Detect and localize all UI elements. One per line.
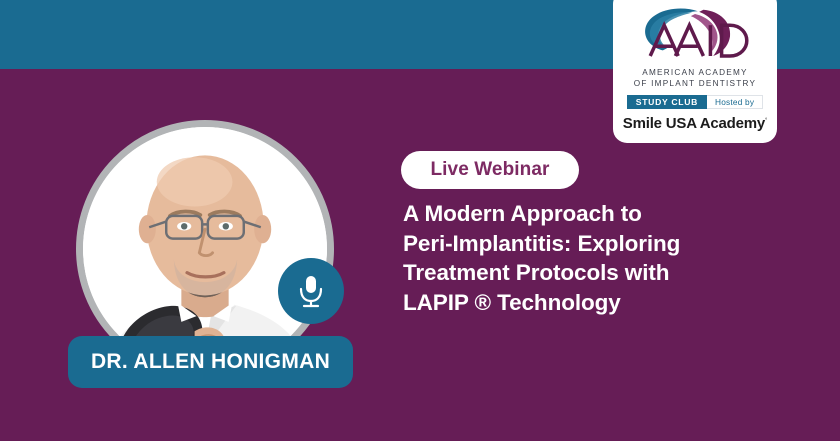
logo-org-line-2: OF IMPLANT DENTISTRY xyxy=(634,78,757,89)
host-trademark: ° xyxy=(765,118,767,124)
aaid-logo-card: AMERICAN ACADEMY OF IMPLANT DENTISTRY ST… xyxy=(613,0,777,143)
logo-org-line-1: AMERICAN ACADEMY xyxy=(642,67,748,78)
live-webinar-label: Live Webinar xyxy=(430,159,549,181)
webinar-promo-poster: AMERICAN ACADEMY OF IMPLANT DENTISTRY ST… xyxy=(0,0,840,441)
microphone-badge xyxy=(278,258,344,324)
microphone-icon xyxy=(296,274,326,308)
host-name-text: Smile USA Academy xyxy=(623,115,765,132)
hosted-by-badge: Hosted by xyxy=(707,95,763,109)
title-line-4: LAPIP ® Technology xyxy=(403,288,803,318)
live-webinar-badge: Live Webinar xyxy=(401,151,579,189)
speaker-portrait-illustration xyxy=(83,127,327,371)
title-line-1: A Modern Approach to xyxy=(403,199,803,229)
webinar-title: A Modern Approach to Peri-Implantitis: E… xyxy=(403,199,803,318)
logo-badge-row: STUDY CLUB Hosted by xyxy=(627,95,763,109)
aaid-logo-icon xyxy=(625,4,765,66)
speaker-name-banner: DR. ALLEN HONIGMAN xyxy=(68,336,353,388)
study-club-badge: STUDY CLUB xyxy=(627,95,707,109)
title-line-2: Peri-Implantitis: Exploring xyxy=(403,229,803,259)
speaker-name: DR. ALLEN HONIGMAN xyxy=(91,350,330,374)
title-line-3: Treatment Protocols with xyxy=(403,258,803,288)
host-name: Smile USA Academy° xyxy=(623,115,767,132)
